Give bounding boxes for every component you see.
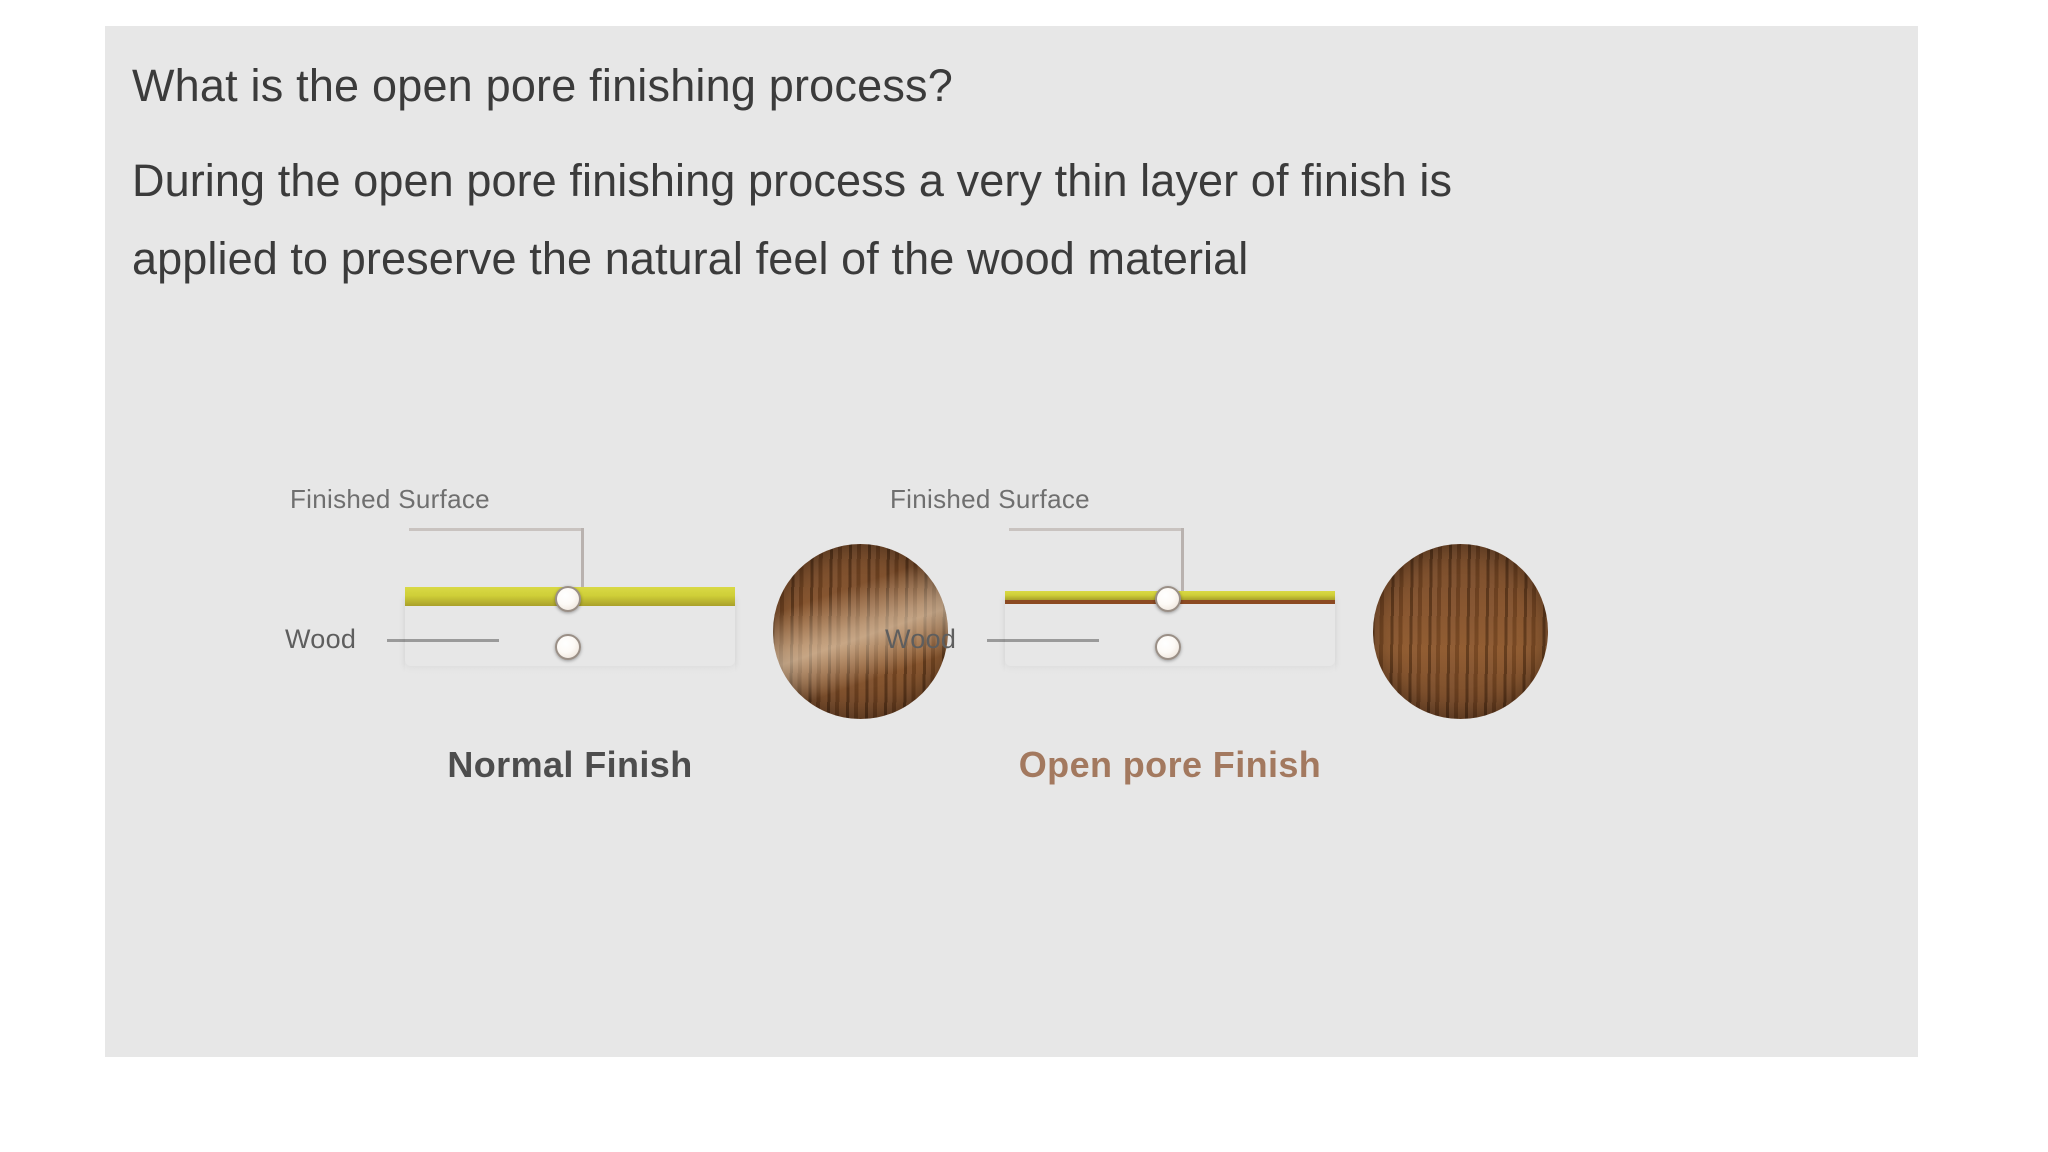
wood-cross-section — [1005, 576, 1335, 681]
question-heading: What is the open pore finishing process? — [132, 56, 1892, 116]
content-card: What is the open pore finishing process?… — [105, 26, 1918, 1057]
article-text-block: What is the open pore finishing process?… — [132, 56, 1892, 297]
wood-marker-dot — [555, 634, 581, 660]
finished-surface-marker-dot — [555, 586, 581, 612]
wood-label: Wood — [285, 624, 356, 655]
finished-surface-label: Finished Surface — [290, 484, 490, 515]
wood-cross-section — [405, 576, 735, 681]
comparison-diagram: Finished Surface Wood Normal Finish — [105, 466, 1918, 1026]
panel-caption-open-pore-finish: Open pore Finish — [775, 744, 1565, 786]
diagram-panel-open-pore-finish: Finished Surface Wood Open pore Finish — [775, 466, 1565, 1026]
finished-surface-leader-horizontal — [409, 528, 584, 531]
answer-paragraph: During the open pore finishing process a… — [132, 142, 1542, 297]
wood-label: Wood — [885, 624, 956, 655]
wood-swatch-matte — [1373, 544, 1548, 719]
wood-marker-dot — [1155, 634, 1181, 660]
finished-surface-marker-dot — [1155, 586, 1181, 612]
finished-surface-leader-horizontal — [1009, 528, 1184, 531]
finished-surface-label: Finished Surface — [890, 484, 1090, 515]
